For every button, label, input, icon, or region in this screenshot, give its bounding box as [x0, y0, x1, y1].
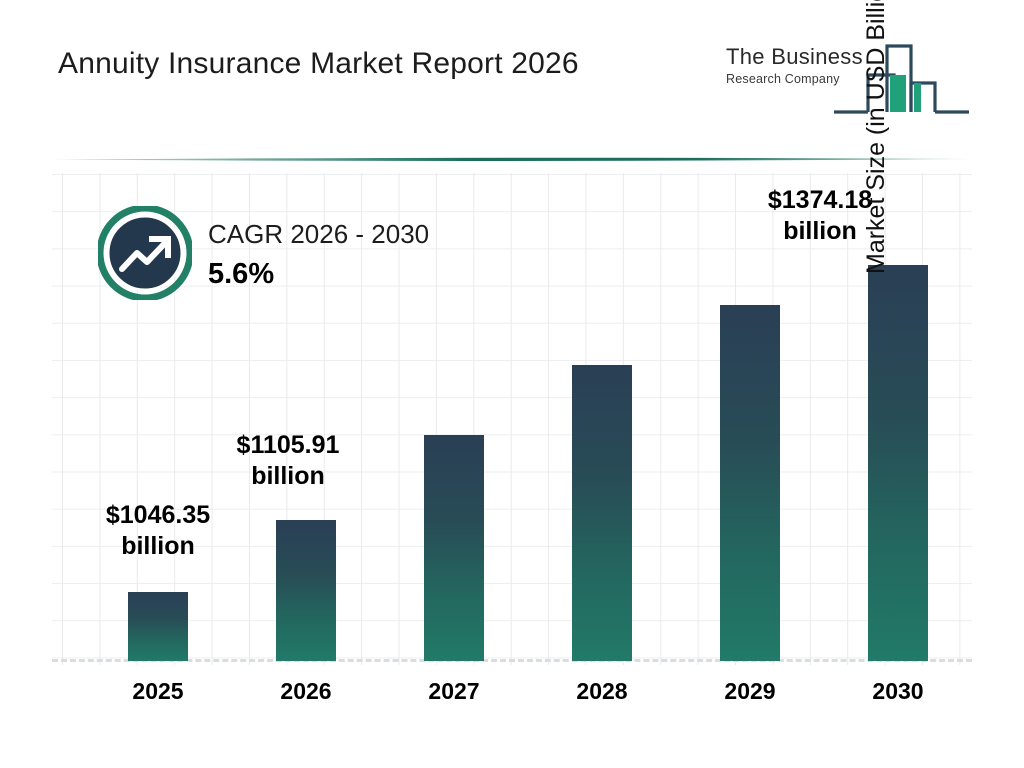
x-tick-2028: 2028 [542, 678, 662, 705]
bar-2030 [868, 265, 928, 661]
cagr-value: 5.6% [208, 259, 429, 291]
bar-chart-logo-mark-icon [832, 36, 971, 118]
company-logo: The Business Research Company [726, 36, 971, 118]
x-tick-2025: 2025 [98, 678, 218, 705]
bar-2026 [276, 520, 336, 661]
trending-up-arrow-icon [98, 206, 192, 300]
cagr-period-label: CAGR 2026 - 2030 [208, 220, 429, 249]
x-tick-2030: 2030 [838, 678, 958, 705]
bar-2027 [424, 435, 484, 661]
bar-2029 [720, 305, 780, 661]
cagr-text-block: CAGR 2026 - 2030 5.6% [208, 220, 429, 290]
page-title: Annuity Insurance Market Report 2026 [58, 47, 579, 81]
y-axis-title: Market Size (in USD Billion) [862, 0, 891, 274]
chart-baseline [52, 659, 972, 662]
x-tick-2029: 2029 [690, 678, 810, 705]
x-tick-2027: 2027 [394, 678, 514, 705]
header-divider [52, 156, 972, 163]
bar-2025 [128, 592, 188, 661]
bar-value-label-2025: $1046.35 billion [92, 500, 224, 561]
cagr-annotation: CAGR 2026 - 2030 5.6% [98, 206, 498, 306]
x-tick-2026: 2026 [246, 678, 366, 705]
bar-value-label-2026: $1105.91 billion [222, 430, 354, 491]
bar-2028 [572, 365, 632, 661]
